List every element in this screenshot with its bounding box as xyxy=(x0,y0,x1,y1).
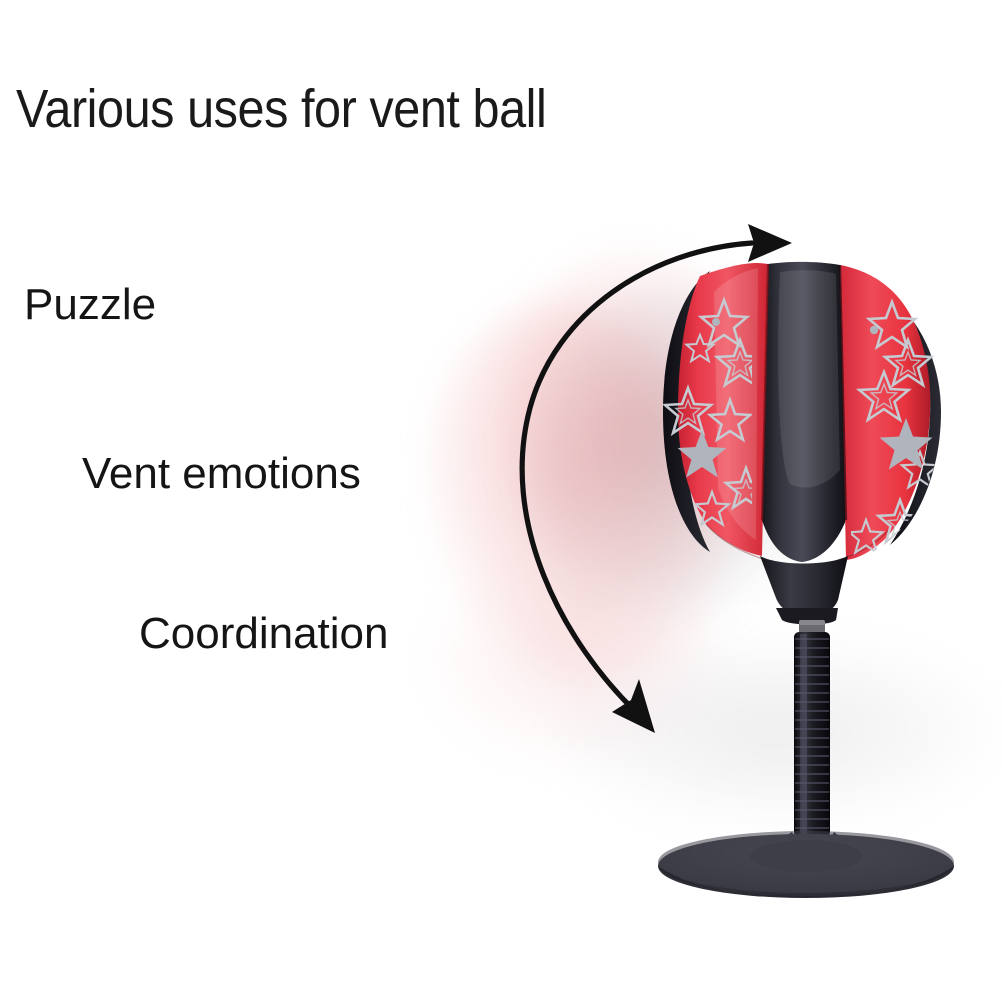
swing-arrow-head-bottom xyxy=(612,679,655,733)
product-infographic: Various uses for vent ball Puzzle Vent e… xyxy=(0,0,1002,1002)
swing-arrow-annotation xyxy=(0,0,1002,1002)
swing-arrow-curve xyxy=(522,243,752,716)
swing-arrow-head-top xyxy=(748,224,792,262)
